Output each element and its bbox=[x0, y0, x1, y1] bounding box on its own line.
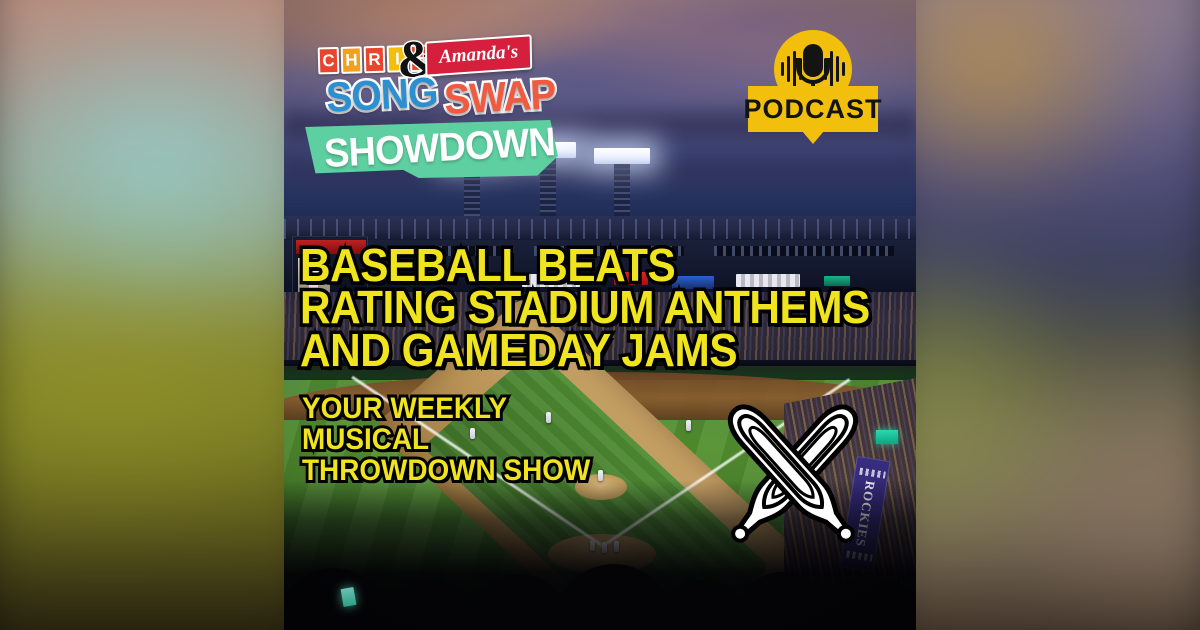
podcast-banner-tail bbox=[802, 131, 824, 144]
title-line-3: AND GAMEDAY JAMS bbox=[300, 329, 815, 371]
title-line-2: RATING STADIUM ANTHEMS bbox=[300, 286, 815, 328]
show-logo: C H R I S & & Amanda's SONG SWAP SHOWDOW… bbox=[300, 28, 560, 188]
soundwave-bar bbox=[781, 62, 784, 76]
podcast-label: PODCAST bbox=[748, 86, 878, 132]
chris-letter-r: R bbox=[364, 46, 386, 74]
spectator-shoulders bbox=[814, 576, 916, 630]
crossed-baseball-bats-icon bbox=[698, 382, 888, 568]
roof-lattice bbox=[284, 219, 916, 239]
title-block: BASEBALL BEATS RATING STADIUM ANTHEMS AN… bbox=[300, 244, 860, 371]
subtitle-line-2: MUSICAL bbox=[302, 425, 674, 456]
chris-letter-c: C bbox=[318, 47, 340, 75]
soundwave-bar bbox=[836, 56, 839, 82]
song-swap-wordmark: SONG SWAP bbox=[308, 74, 558, 126]
song-word-outline: SONG bbox=[325, 71, 438, 119]
swap-word-outline: SWAP bbox=[443, 73, 556, 121]
subtitle-line-3: THROWDOWN SHOW bbox=[302, 456, 674, 487]
cover-art-canvas: ROCKIES C H R I S bbox=[0, 0, 1200, 630]
subtitle-block: YOUR WEEKLY MUSICAL THROWDOWN SHOW bbox=[302, 394, 702, 487]
backdrop-right bbox=[870, 0, 1200, 630]
podcast-badge: PODCAST bbox=[748, 30, 878, 160]
amanda-banner: Amanda's bbox=[425, 34, 533, 77]
subtitle-line-1: YOUR WEEKLY bbox=[302, 394, 674, 425]
backdrop-left bbox=[0, 0, 330, 630]
soundwave-bar bbox=[830, 51, 833, 87]
light-bank bbox=[594, 148, 650, 164]
spectator-shoulders bbox=[284, 568, 392, 630]
title-line-1: BASEBALL BEATS bbox=[300, 244, 815, 286]
bats-svg bbox=[698, 382, 888, 568]
amanda-text: Amanda's bbox=[438, 42, 518, 66]
chris-letter-h: H bbox=[341, 46, 363, 74]
soundwave-bar bbox=[842, 62, 845, 76]
soundwave-bar bbox=[787, 56, 790, 82]
